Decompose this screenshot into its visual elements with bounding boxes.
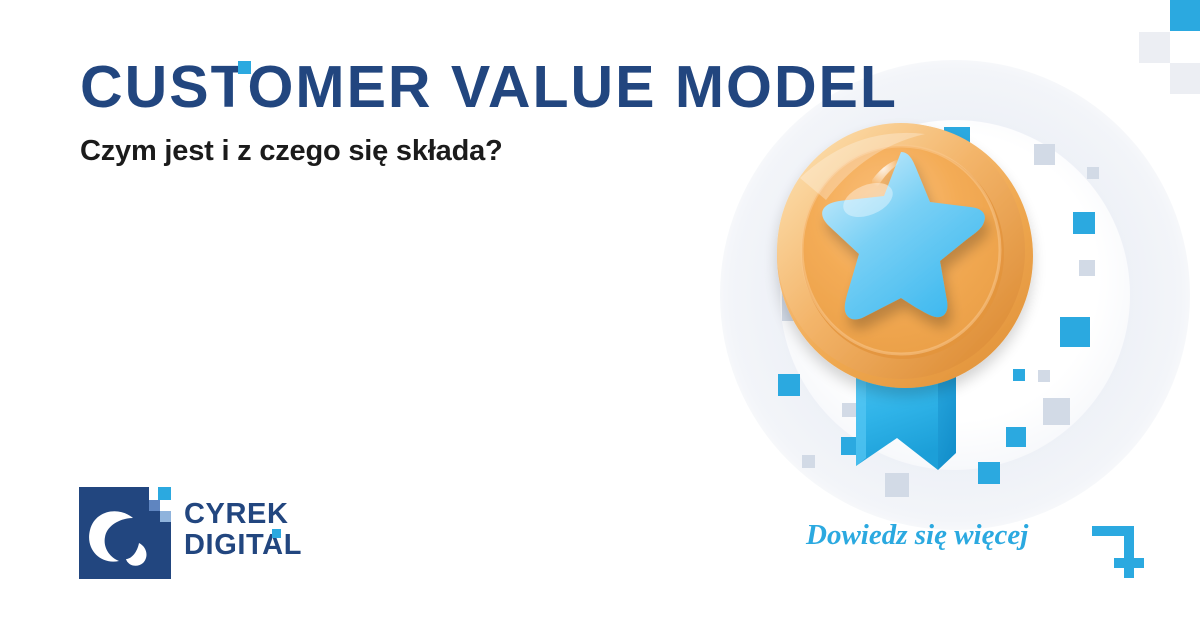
- corner-square: [1139, 32, 1170, 63]
- award-medal-illustration: [760, 108, 1100, 508]
- logo-wordmark: CYREK DIGITAL: [184, 499, 302, 561]
- page-subtitle: Czym jest i z czego się składa?: [80, 135, 503, 168]
- cyrek-digital-mark-icon: [79, 487, 171, 579]
- page-title: CUSTOMER VALUE MODEL: [80, 58, 898, 117]
- corner-square: [1170, 0, 1200, 31]
- cta-label[interactable]: Dowiedz się więcej: [806, 519, 1028, 552]
- logo-line-1: CYREK: [184, 499, 302, 530]
- corner-square: [1170, 63, 1200, 94]
- logo-line-2: DIGITAL: [184, 530, 302, 561]
- banner-root: CUSTOMER VALUE MODEL Czym jest i z czego…: [0, 0, 1200, 628]
- logo-accent-square: [272, 529, 281, 538]
- corner-bracket-icon: [1092, 526, 1154, 593]
- title-accent-square: [238, 61, 251, 74]
